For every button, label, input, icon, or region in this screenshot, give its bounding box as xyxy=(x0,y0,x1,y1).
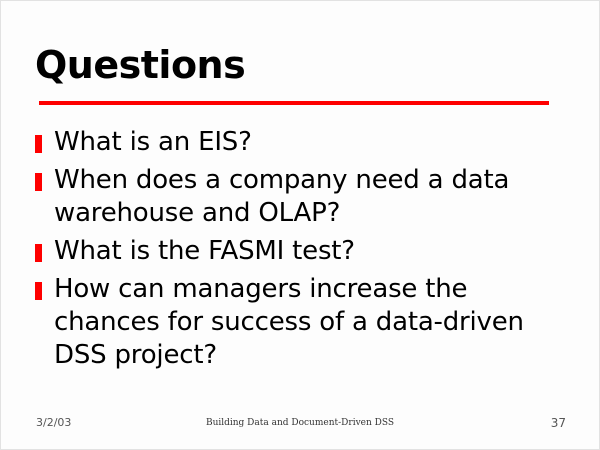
list-item-label: What is the FASMI test? xyxy=(54,235,575,268)
bullet-marker-icon xyxy=(35,244,42,262)
list-item: When does a company need a data warehous… xyxy=(35,164,575,230)
list-item: What is the FASMI test? xyxy=(35,235,575,268)
bullet-marker-icon xyxy=(35,135,42,153)
footer-page-number: 37 xyxy=(551,416,566,430)
page-title: Questions xyxy=(35,43,245,87)
presentation-slide: Questions What is an EIS? When does a co… xyxy=(0,0,600,450)
list-item: What is an EIS? xyxy=(35,126,575,159)
list-item: How can managers increase the chances fo… xyxy=(35,273,575,372)
bullet-list: What is an EIS? When does a company need… xyxy=(35,126,575,377)
list-item-label: When does a company need a data warehous… xyxy=(54,164,575,230)
list-item-label: What is an EIS? xyxy=(54,126,575,159)
title-divider-rule xyxy=(39,101,549,105)
bullet-marker-icon xyxy=(35,173,42,191)
bullet-marker-icon xyxy=(35,282,42,300)
footer-title: Building Data and Document-Driven DSS xyxy=(1,418,599,428)
slide-footer: 3/2/03 Building Data and Document-Driven… xyxy=(1,416,599,436)
list-item-label: How can managers increase the chances fo… xyxy=(54,273,575,372)
